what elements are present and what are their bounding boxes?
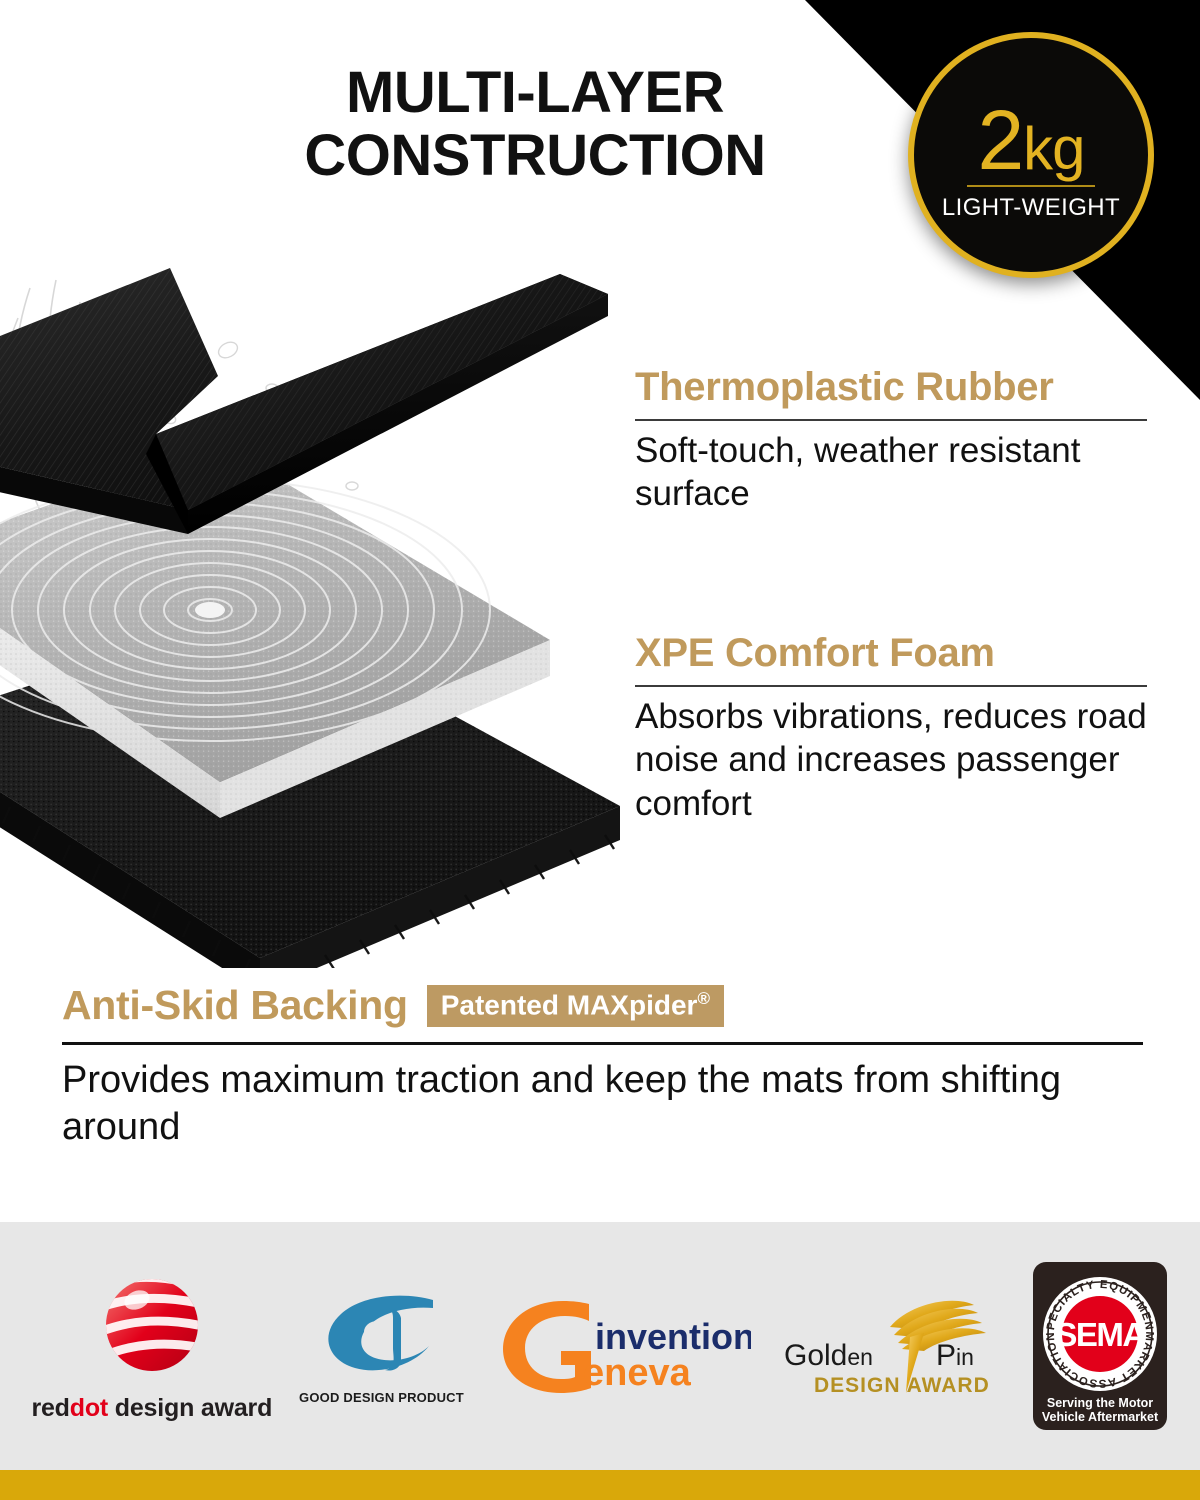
title-line-1: MULTI-LAYER xyxy=(250,62,820,125)
weight-badge: 2kg LIGHT-WEIGHT xyxy=(908,32,1154,278)
registered-trademark-icon: ® xyxy=(697,989,710,1008)
golden-word: Golden xyxy=(784,1339,873,1372)
reddot-label-dot: dot xyxy=(70,1394,108,1422)
reddot-label-rest: design award xyxy=(108,1394,272,1422)
sema-logo-icon: SPECIALTY EQUIPMENT MARKET ASSOCIATION S… xyxy=(1031,1260,1169,1432)
weight-number: 2 xyxy=(977,93,1023,187)
feature-heading: XPE Comfort Foam xyxy=(635,632,1147,674)
infographic-canvas: MULTI-LAYER CONSTRUCTION 2kg LIGHT-WEIGH… xyxy=(0,0,1200,1500)
weight-unit: kg xyxy=(1023,115,1084,182)
award-reddot: reddot design award xyxy=(31,1270,272,1423)
good-design-gd-icon xyxy=(313,1288,449,1384)
feature-body: Absorbs vibrations, reduces road noise a… xyxy=(635,695,1147,825)
patent-chip-text: Patented MAXpider xyxy=(441,989,698,1020)
golden-pin-subtitle: DESIGN AWARD xyxy=(814,1374,990,1397)
badge-caption: LIGHT-WEIGHT xyxy=(942,194,1120,222)
feature-xpe-comfort-foam: XPE Comfort Foam Absorbs vibrations, red… xyxy=(635,632,1147,825)
sema-sub-line-2: Vehicle Aftermarket xyxy=(1041,1410,1158,1424)
title-line-2: CONSTRUCTION xyxy=(250,125,820,188)
awards-footer: reddot design award GOOD DESIGN PRODUCT … xyxy=(0,1222,1200,1470)
sema-wordmark: SEMA xyxy=(1055,1316,1145,1353)
golden-pin-logo-icon: Golden Pin DESIGN AWARD xyxy=(778,1293,1004,1399)
page-title: MULTI-LAYER CONSTRUCTION xyxy=(250,62,820,187)
feature-divider xyxy=(62,1042,1143,1045)
award-label: GOOD DESIGN PRODUCT xyxy=(299,1390,464,1405)
anti-skid-header: Anti-Skid Backing Patented MAXpider® xyxy=(62,982,1143,1029)
product-layers-illustration xyxy=(0,258,660,968)
sema-sub-line-1: Serving the Motor xyxy=(1046,1396,1152,1410)
weight-value: 2kg xyxy=(977,102,1084,179)
award-sema: SPECIALTY EQUIPMENT MARKET ASSOCIATION S… xyxy=(1031,1260,1169,1432)
patented-maxpider-badge: Patented MAXpider® xyxy=(427,985,724,1027)
bottom-gold-bar xyxy=(0,1470,1200,1500)
award-label: reddot design award xyxy=(31,1394,272,1423)
geneva-word: eneva xyxy=(583,1352,692,1394)
award-golden-pin: Golden Pin DESIGN AWARD xyxy=(778,1293,1004,1399)
award-inventions-geneva: inventions eneva xyxy=(491,1291,751,1401)
foam-center-dot xyxy=(195,602,225,618)
inventions-geneva-logo-icon: inventions eneva xyxy=(491,1291,751,1401)
feature-divider xyxy=(635,419,1147,421)
award-good-design-product: GOOD DESIGN PRODUCT xyxy=(299,1288,464,1405)
pin-word: Pin xyxy=(936,1339,974,1372)
feature-body: Provides maximum traction and keep the m… xyxy=(62,1057,1143,1151)
feature-heading: Thermoplastic Rubber xyxy=(635,366,1147,408)
feature-body: Soft-touch, weather resistant surface xyxy=(635,429,1147,516)
inventions-word: inventions xyxy=(595,1316,751,1357)
feature-heading: Anti-Skid Backing xyxy=(62,982,408,1029)
reddot-label-red: red xyxy=(31,1394,69,1422)
reddot-globe-icon xyxy=(93,1270,211,1388)
badge-divider xyxy=(967,185,1095,187)
feature-thermoplastic-rubber: Thermoplastic Rubber Soft-touch, weather… xyxy=(635,366,1147,516)
feature-divider xyxy=(635,685,1147,687)
feature-anti-skid-backing: Anti-Skid Backing Patented MAXpider® Pro… xyxy=(62,982,1143,1151)
